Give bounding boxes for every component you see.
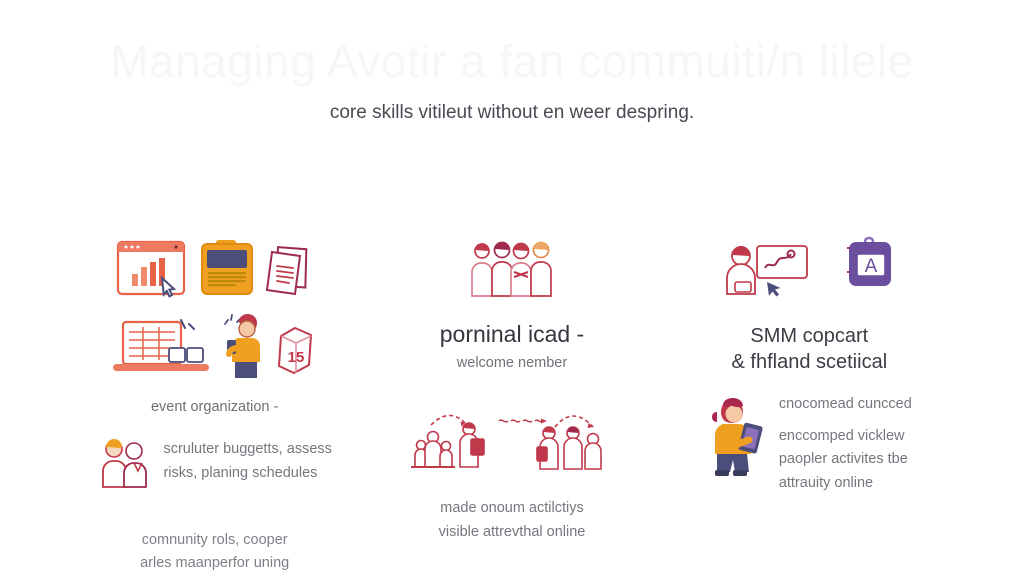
group-of-four-people-icon xyxy=(464,238,560,296)
documents-stack-icon xyxy=(264,238,316,300)
icon-group-column-2 xyxy=(363,238,660,296)
column-3-body-line-3: paopler activites tbe xyxy=(779,448,912,471)
column-2-heading: porninal icad - xyxy=(363,320,660,349)
column-3-body-text: cnocomead cuncced enccomped vicklew paop… xyxy=(779,393,912,495)
column-smm-support: A SMM copcart & fhfland scetiical xyxy=(661,238,958,568)
laptop-spreadsheet-icon xyxy=(109,318,213,380)
column-2-body-line-1: made onoum actilctiys xyxy=(363,497,660,520)
svg-text:A: A xyxy=(865,256,878,277)
column-1-footer-line-2: arles maanperfor uning xyxy=(66,552,363,575)
column-1-body-line-1: scruluter buggetts, assess xyxy=(163,438,331,461)
column-1-body-text: scruluter buggetts, assess risks, planin… xyxy=(163,438,331,485)
column-1-body-block: scruluter buggetts, assess risks, planin… xyxy=(66,435,363,489)
svg-text:15: 15 xyxy=(287,349,304,366)
column-3-heading-line-2: & fhfland scetiical xyxy=(661,350,958,376)
column-1-footer-line-1: comnunity rols, cooper xyxy=(66,529,363,552)
column-1-body-line-2: risks, planing schedules xyxy=(163,462,331,485)
page-title: Managing Avotir a fan commuiti/n lilele xyxy=(0,0,1024,88)
badge-letter-a-icon: A xyxy=(827,238,899,300)
column-2-subnote: welcome nember xyxy=(363,355,660,371)
column-3-body-line-2: enccomped vicklew xyxy=(779,425,912,448)
column-3-body-block: cnocomead cuncced enccomped vicklew paop… xyxy=(661,393,958,495)
column-3-body-line-4: attrauity online xyxy=(779,472,912,495)
laptop-keyboard-icon xyxy=(198,238,256,300)
icon-group-row-1 xyxy=(66,238,363,300)
two-people-icon xyxy=(97,435,153,489)
column-3-heading-line-1: SMM copcart xyxy=(661,324,958,350)
icon-group-column-3: A xyxy=(661,238,958,300)
column-personal-lead: porninal icad - welcome nember xyxy=(363,238,660,568)
dice-15-icon: 15 xyxy=(271,318,321,380)
person-with-tablet-icon xyxy=(707,396,769,492)
slide-canvas: Managing Avotir a fan commuiti/n lilele … xyxy=(0,0,1024,585)
column-3-body-line-1: cnocomead cuncced xyxy=(779,393,912,416)
column-event-organization: 15 event organization - xyxy=(66,238,363,568)
column-2-body-line-2: visible attrevthal online xyxy=(363,521,660,544)
page-subtitle: core skills vitileut without en weer des… xyxy=(0,88,1024,124)
slide-header: Managing Avotir a fan commuiti/n lilele … xyxy=(0,0,1024,124)
people-flow-diagram-icon xyxy=(363,401,660,479)
browser-bar-chart-icon xyxy=(114,238,190,300)
person-presentation-icon xyxy=(719,238,819,300)
person-phone-icon xyxy=(217,312,267,380)
columns-container: 15 event organization - xyxy=(0,238,1024,568)
icon-group-row-2: 15 xyxy=(66,312,363,380)
column-1-heading: event organization - xyxy=(66,398,363,417)
